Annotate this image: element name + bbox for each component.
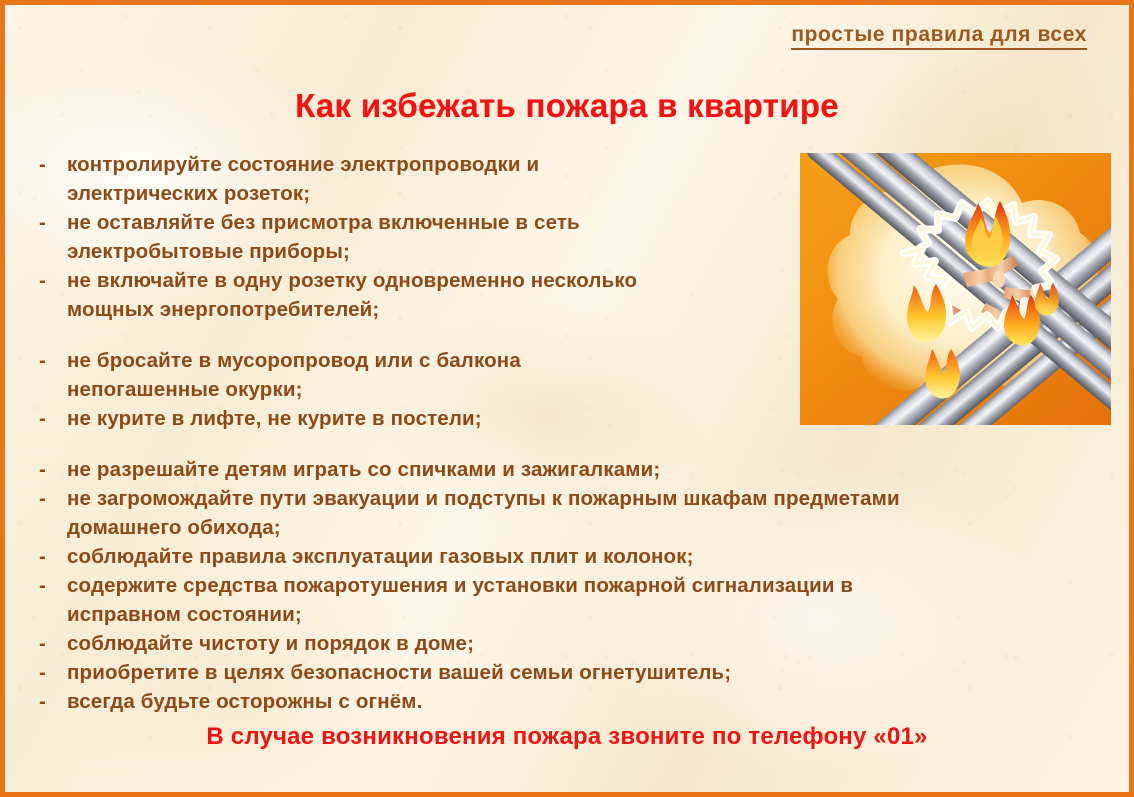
list-item-text: не курите в лифте, не курите в постели; xyxy=(67,404,793,433)
poster-eyebrow: простые правила для всех xyxy=(791,23,1087,50)
list-item-text: не разрешайте детям играть со спичками и… xyxy=(67,455,1099,484)
burning-electrical-cables-illustration xyxy=(800,153,1111,425)
bullet-dash-icon: - xyxy=(39,629,67,658)
list-item: - не разрешайте детям играть со спичками… xyxy=(39,455,1099,484)
emergency-call-notice: В случае возникновения пожара звоните по… xyxy=(5,723,1129,751)
page-title: Как избежать пожара в квартире xyxy=(5,87,1129,125)
list-item: - всегда будьте осторожны с огнём. xyxy=(39,687,1099,716)
list-item-text: соблюдайте чистоту и порядок в доме; xyxy=(67,629,1099,658)
illustration-graphic xyxy=(800,153,1111,425)
bullet-dash-icon: - xyxy=(39,542,67,571)
bullet-dash-icon: - xyxy=(39,484,67,513)
list-item-text: не бросайте в мусоропровод или с балкона… xyxy=(67,346,793,404)
list-item: - соблюдайте чистоту и порядок в доме; xyxy=(39,629,1099,658)
bullet-dash-icon: - xyxy=(39,571,67,600)
list-item-text: всегда будьте осторожны с огнём. xyxy=(67,687,1099,716)
bullet-dash-icon: - xyxy=(39,455,67,484)
list-item: - соблюдайте правила эксплуатации газовы… xyxy=(39,542,1099,571)
list-item-text: соблюдайте правила эксплуатации газовых … xyxy=(67,542,1099,571)
bullet-dash-icon: - xyxy=(39,208,67,237)
list-item: - не загромождайте пути эвакуации и подс… xyxy=(39,484,1099,542)
fire-safety-poster: простые правила для всех Как избежать по… xyxy=(0,0,1134,797)
bullet-dash-icon: - xyxy=(39,150,67,179)
list-item-text: приобретите в целях безопасности вашей с… xyxy=(67,658,1099,687)
list-item-text: не оставляйте без присмотра включенные в… xyxy=(67,208,793,266)
bullet-dash-icon: - xyxy=(39,404,67,433)
list-item-text: контролируйте состояние электропроводки … xyxy=(67,150,793,208)
list-item-text: не загромождайте пути эвакуации и подсту… xyxy=(67,484,1099,542)
bullet-dash-icon: - xyxy=(39,266,67,295)
list-item-text: содержите средства пожаротушения и устан… xyxy=(67,571,1099,629)
list-item: - приобретите в целях безопасности вашей… xyxy=(39,658,1099,687)
bullet-dash-icon: - xyxy=(39,658,67,687)
list-item: - содержите средства пожаротушения и уст… xyxy=(39,571,1099,629)
bullet-dash-icon: - xyxy=(39,687,67,716)
bullet-dash-icon: - xyxy=(39,346,67,375)
list-item-text: не включайте в одну розетку одновременно… xyxy=(67,266,793,324)
rules-group-general: - не разрешайте детям играть со спичками… xyxy=(39,455,1099,716)
